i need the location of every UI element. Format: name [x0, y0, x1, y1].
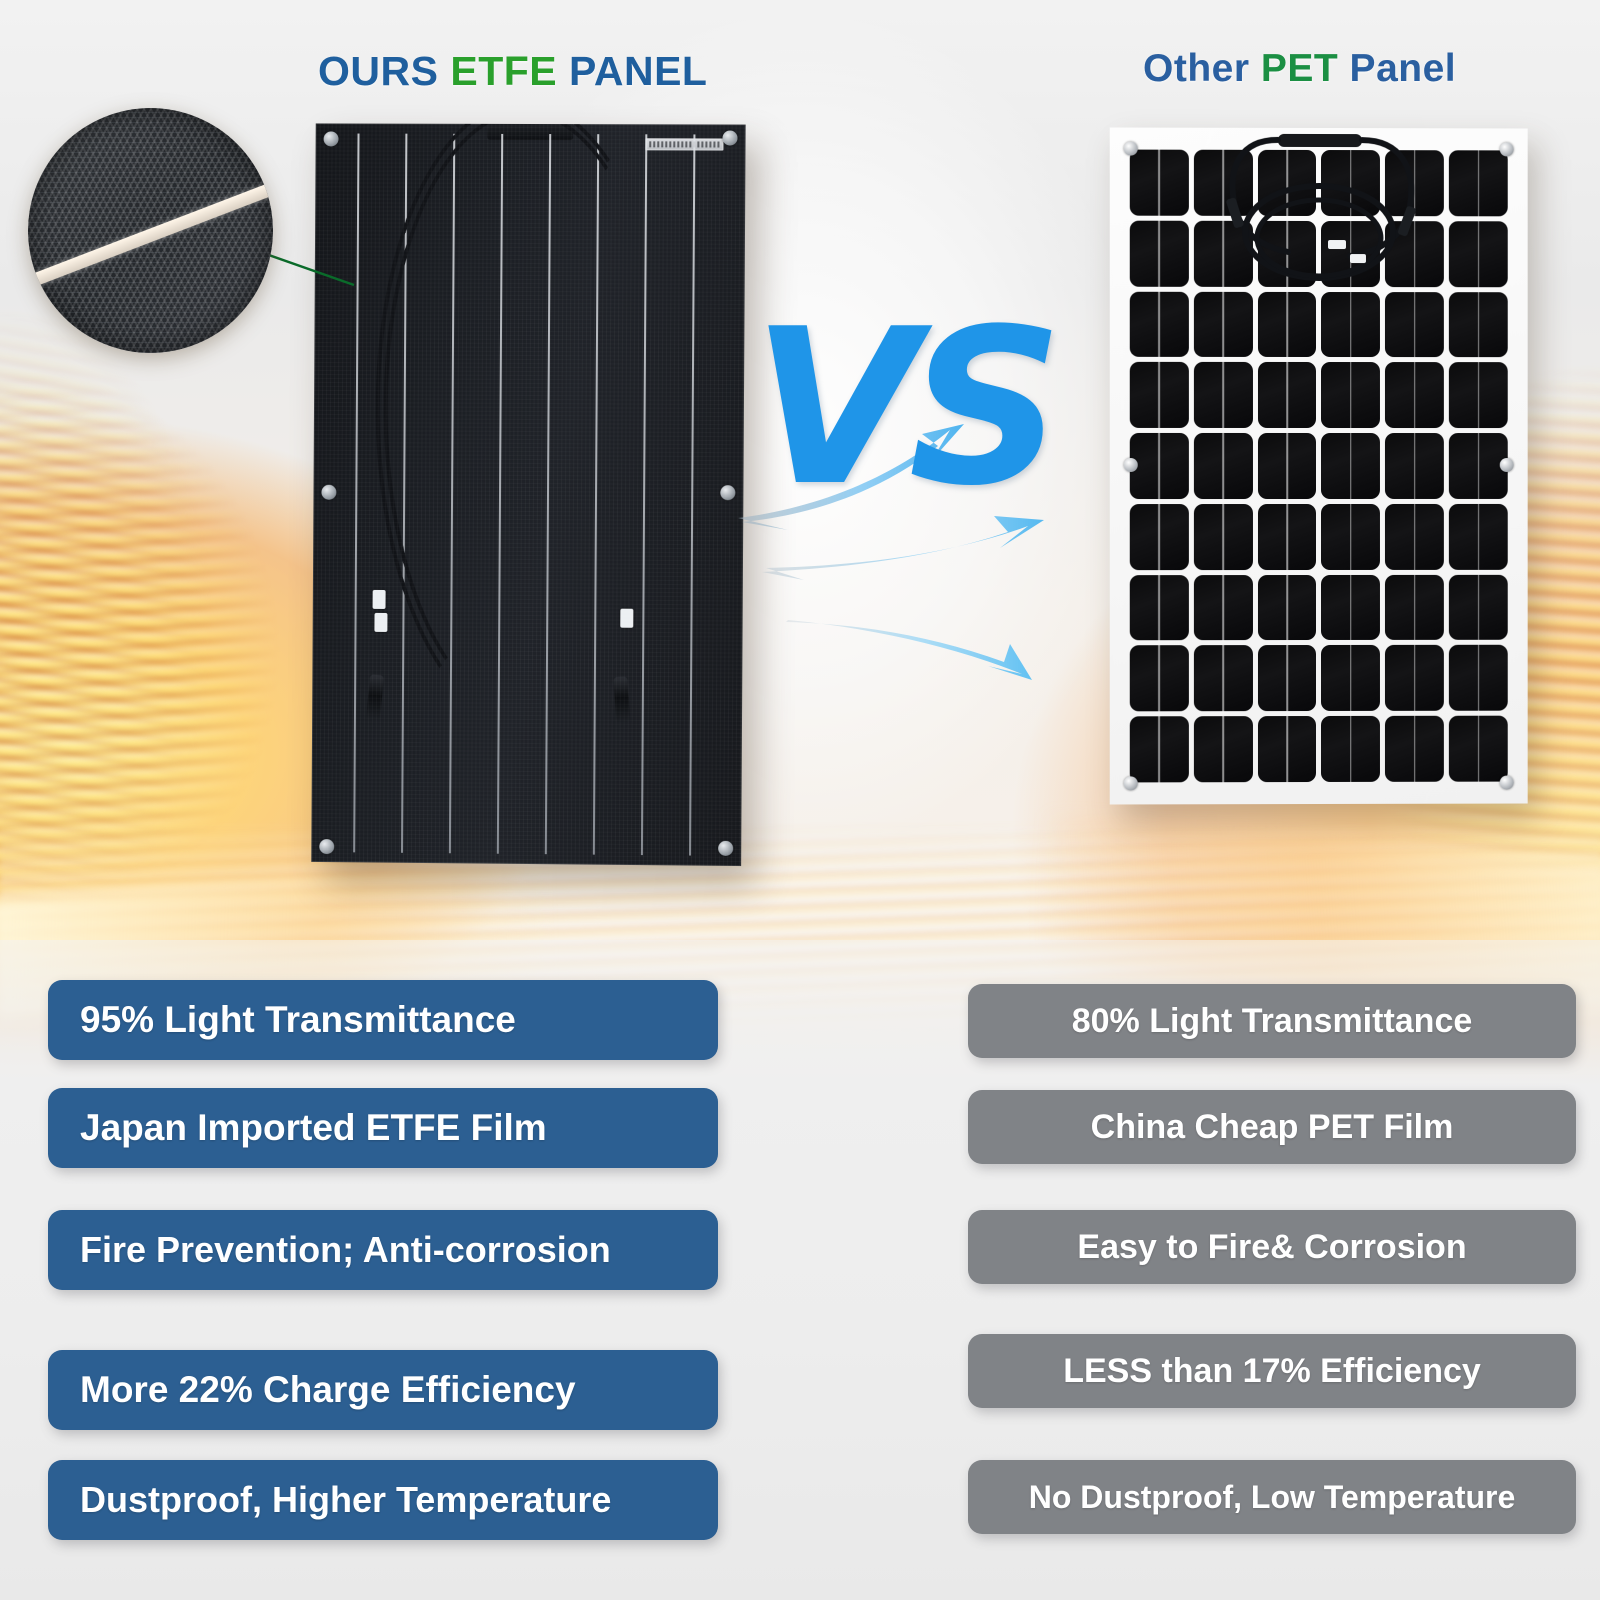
mounting-grommet	[722, 131, 737, 146]
mc4-connector	[366, 674, 384, 721]
solar-cell	[1321, 716, 1380, 782]
solar-cell	[1385, 716, 1444, 782]
mounting-grommet	[1500, 142, 1514, 156]
solar-cell	[1449, 716, 1508, 782]
solar-cell	[1258, 150, 1317, 216]
feature-badge-other[interactable]: LESS than 17% Efficiency	[968, 1334, 1576, 1408]
solar-cell	[1258, 362, 1317, 428]
mc4-connector	[613, 676, 630, 723]
mounting-grommet	[1124, 776, 1138, 790]
solar-cell	[1258, 291, 1317, 357]
title-ours-prefix: OURS	[318, 48, 450, 94]
feature-label: Easy to Fire& Corrosion	[1077, 1228, 1466, 1267]
solar-cell	[1130, 362, 1189, 428]
solar-cell	[1130, 433, 1189, 499]
busbar-line	[353, 134, 359, 853]
solar-cell-grid	[1130, 150, 1508, 783]
solar-cell	[1258, 221, 1317, 287]
mounting-grommet	[324, 131, 339, 146]
title-ours-suffix: PANEL	[557, 48, 707, 94]
solar-cell	[1385, 575, 1444, 641]
junction-box	[487, 123, 573, 140]
mounting-grommet	[718, 841, 733, 856]
busbar-line	[401, 134, 407, 853]
feature-label: China Cheap PET Film	[1091, 1108, 1454, 1147]
solar-cell	[1194, 291, 1253, 357]
solar-cell	[1194, 433, 1253, 499]
busbar-line	[593, 134, 599, 854]
feature-badge-ours[interactable]: Fire Prevention; Anti-corrosion	[48, 1210, 718, 1290]
busbar-line	[449, 134, 455, 853]
mounting-grommet	[1500, 458, 1514, 472]
solar-cell	[1194, 362, 1253, 428]
solar-cell	[1449, 504, 1508, 570]
feature-comparison-lists: 95% Light Transmittance Japan Imported E…	[0, 962, 1600, 1600]
etfe-texture-zoom-bubble	[28, 108, 273, 353]
versus-label: VS	[752, 300, 1053, 515]
feature-badge-ours[interactable]: Dustproof, Higher Temperature	[48, 1460, 718, 1540]
feature-label: Japan Imported ETFE Film	[80, 1107, 547, 1149]
solar-cell	[1258, 716, 1317, 782]
feature-label: 95% Light Transmittance	[80, 999, 516, 1041]
solar-cell	[1321, 575, 1380, 641]
solar-cell	[1258, 645, 1317, 711]
solar-cell	[1194, 221, 1253, 287]
solar-cell	[1130, 504, 1189, 570]
cable-tag	[374, 613, 387, 632]
solar-cell	[1385, 504, 1444, 570]
solar-cell	[1194, 575, 1253, 641]
feature-badge-other[interactable]: Easy to Fire& Corrosion	[968, 1210, 1576, 1284]
solar-cell	[1321, 221, 1380, 287]
mounting-grommet	[1500, 776, 1514, 790]
feature-badge-ours[interactable]: More 22% Charge Efficiency	[48, 1350, 718, 1430]
solar-cell	[1449, 221, 1508, 287]
busbar-line	[545, 134, 551, 854]
title-other-highlight: PET	[1261, 47, 1338, 90]
solar-cell	[1130, 716, 1189, 782]
solar-cell	[1385, 221, 1444, 287]
solar-cell	[1385, 433, 1444, 499]
panel-edge	[311, 123, 745, 866]
busbar-line	[689, 134, 695, 855]
busbar-stripe-detail	[28, 169, 273, 296]
feature-badge-ours[interactable]: 95% Light Transmittance	[48, 980, 718, 1060]
solar-cell	[1130, 291, 1189, 357]
solar-cell	[1449, 645, 1508, 711]
feature-label: More 22% Charge Efficiency	[80, 1369, 576, 1411]
title-ours-highlight: ETFE	[450, 48, 557, 94]
solar-cell	[1385, 292, 1444, 358]
feature-badge-other[interactable]: 80% Light Transmittance	[968, 984, 1576, 1058]
page-title-other: Other PET Panel	[1143, 47, 1456, 91]
panel-cable-loop	[372, 123, 677, 729]
solar-cell	[1258, 433, 1317, 499]
solar-cell	[1130, 646, 1189, 712]
solar-cell	[1258, 575, 1317, 641]
cable-tag	[620, 609, 633, 628]
title-other-prefix: Other	[1143, 47, 1261, 90]
mounting-grommet	[1124, 142, 1138, 156]
solar-cell	[1130, 575, 1189, 641]
solar-cell	[1385, 150, 1444, 216]
mounting-grommet	[319, 839, 334, 854]
feature-label: No Dustproof, Low Temperature	[1029, 1479, 1516, 1516]
feature-label: 80% Light Transmittance	[1072, 1002, 1473, 1041]
panel-spec-label	[645, 138, 723, 150]
product-image-pet-panel	[1110, 128, 1528, 805]
solar-cell	[1321, 645, 1380, 711]
infographic-canvas: OURS ETFE PANEL Other PET Panel	[0, 0, 1600, 1600]
solar-cell	[1194, 716, 1253, 782]
product-image-etfe-panel	[311, 123, 745, 866]
mounting-grommet	[1124, 458, 1138, 472]
solar-cell	[1385, 362, 1444, 428]
versus-graphic: VS	[742, 300, 1062, 680]
feature-badge-ours[interactable]: Japan Imported ETFE Film	[48, 1088, 718, 1168]
feature-badge-other[interactable]: China Cheap PET Film	[968, 1090, 1576, 1164]
solar-cell	[1321, 150, 1380, 216]
busbar-line	[641, 134, 647, 855]
title-other-suffix: Panel	[1338, 47, 1456, 90]
solar-cell	[1194, 504, 1253, 570]
page-title-ours: OURS ETFE PANEL	[318, 48, 707, 95]
solar-cell	[1194, 150, 1253, 216]
solar-cell	[1449, 362, 1508, 428]
solar-cell	[1130, 220, 1189, 286]
panel-cable-loop	[380, 123, 673, 719]
solar-cell	[1321, 504, 1380, 570]
solar-cell	[1449, 292, 1508, 358]
busbar-line	[497, 134, 503, 854]
solar-cell	[1449, 150, 1508, 216]
cable-tag	[373, 590, 386, 609]
feature-badge-other[interactable]: No Dustproof, Low Temperature	[968, 1460, 1576, 1534]
feature-label: Fire Prevention; Anti-corrosion	[80, 1229, 611, 1271]
solar-cell	[1258, 504, 1317, 570]
solar-cell	[1449, 575, 1508, 641]
feature-label: LESS than 17% Efficiency	[1063, 1352, 1481, 1391]
solar-cell	[1130, 150, 1189, 216]
feature-label: Dustproof, Higher Temperature	[80, 1479, 611, 1521]
solar-cell	[1321, 362, 1380, 428]
solar-cell	[1321, 292, 1380, 358]
solar-cell	[1385, 645, 1444, 711]
solar-cell	[1321, 433, 1380, 499]
solar-cell	[1194, 646, 1253, 712]
mounting-grommet	[321, 485, 336, 500]
